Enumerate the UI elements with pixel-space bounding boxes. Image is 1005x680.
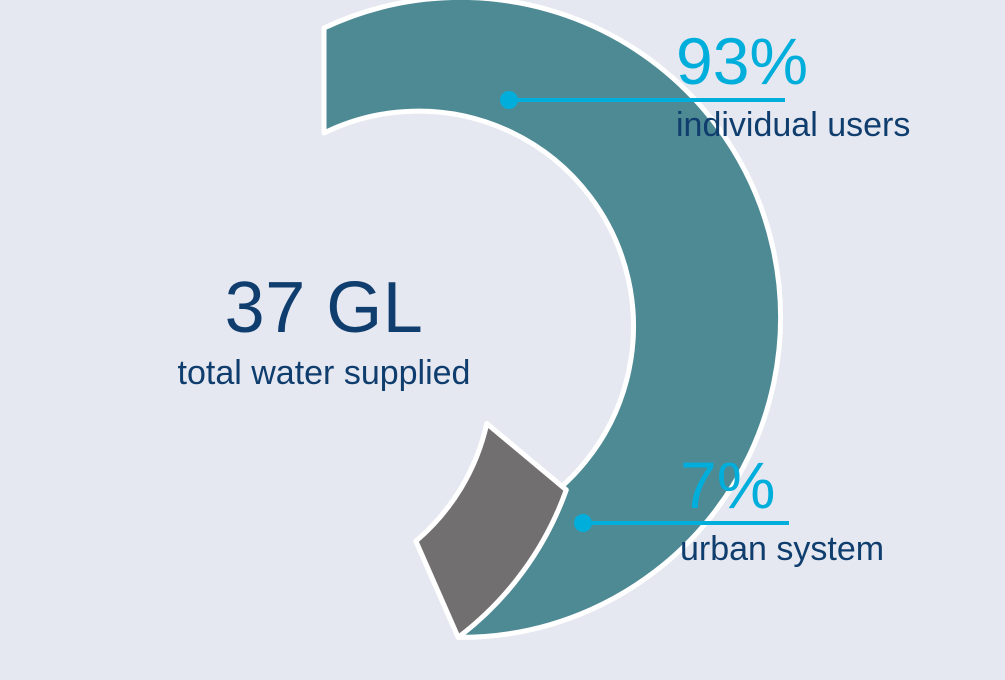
callout-urban-system: 7% urban system: [680, 452, 884, 566]
callout-individual-users: 93% individual users: [676, 28, 910, 142]
callout-percent-urban-system: 7%: [680, 452, 884, 518]
leader-dot-individual-users: [500, 91, 518, 109]
callout-percent-individual-users: 93%: [676, 28, 910, 94]
callout-label-individual-users: individual users: [676, 108, 910, 142]
callout-label-urban-system: urban system: [680, 532, 884, 566]
donut-chart-figure: 37 GL total water supplied 93% individua…: [0, 0, 1005, 680]
leader-dot-urban-system: [574, 514, 592, 532]
